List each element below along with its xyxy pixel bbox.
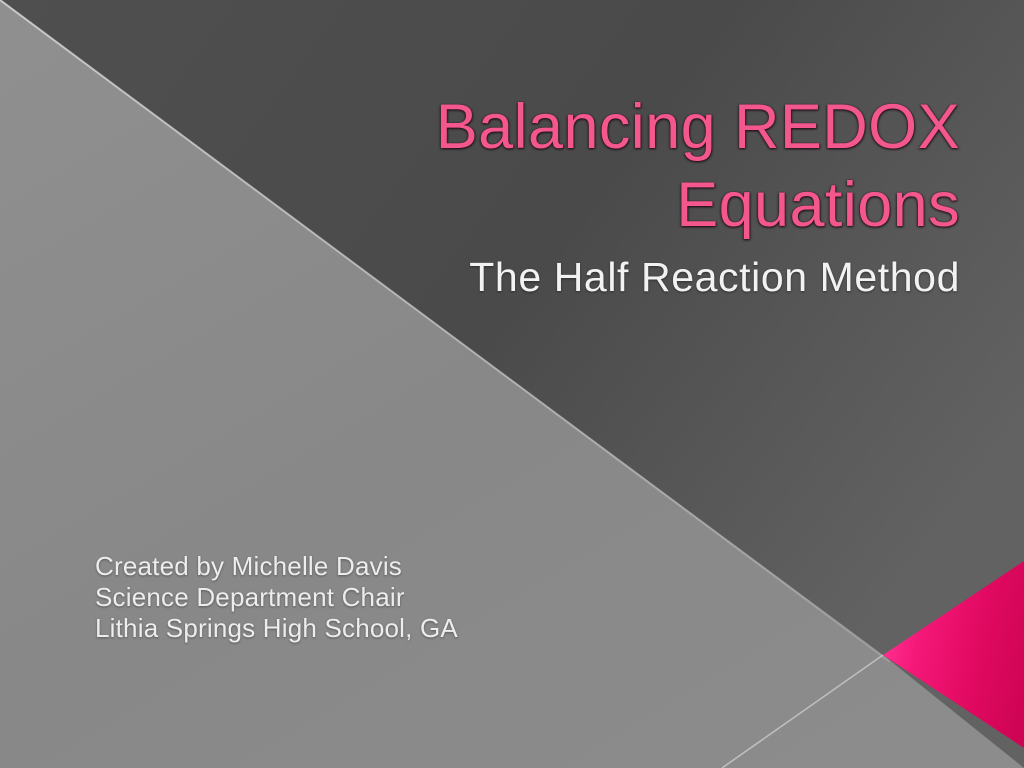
- magenta-corner-triangle: [883, 561, 1024, 748]
- presentation-slide: Balancing REDOX Equations The Half React…: [0, 0, 1024, 768]
- slide-subtitle: The Half Reaction Method: [120, 252, 960, 302]
- credit-container: Created by Michelle Davis Science Depart…: [95, 551, 458, 644]
- subtitle-container: The Half Reaction Method: [120, 252, 960, 302]
- credit-line-author: Created by Michelle Davis: [95, 551, 458, 582]
- slide-title: Balancing REDOX Equations: [120, 88, 960, 244]
- title-container: Balancing REDOX Equations: [120, 88, 960, 244]
- thin-accent-line: [722, 655, 883, 768]
- credit-line-school: Lithia Springs High School, GA: [95, 613, 458, 644]
- credit-line-role: Science Department Chair: [95, 582, 458, 613]
